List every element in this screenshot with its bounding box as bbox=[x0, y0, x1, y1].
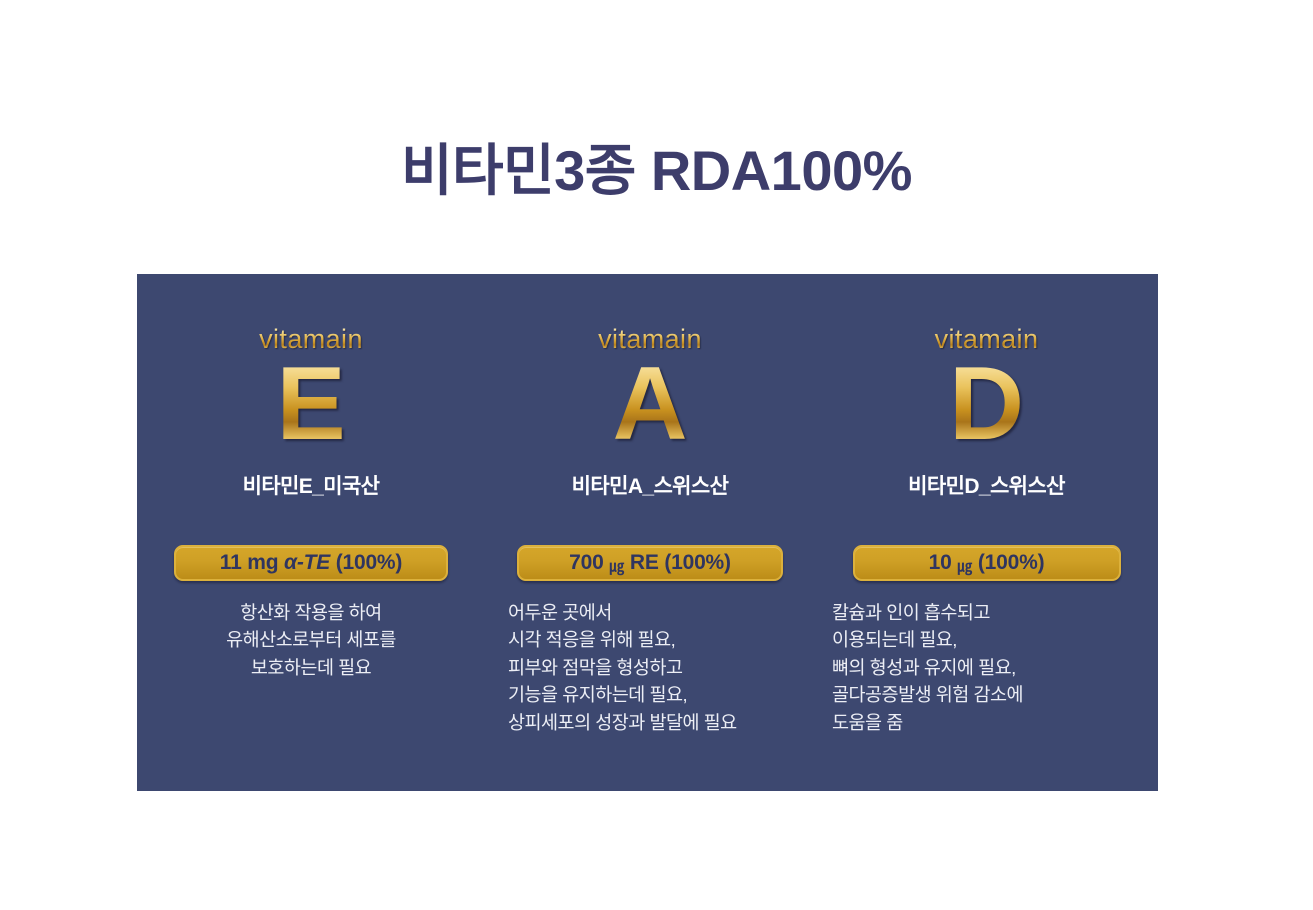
dose-percent-a: (100%) bbox=[664, 551, 731, 575]
dose-badge-a: 700 ㎍ RE (100%) bbox=[517, 545, 783, 581]
vitamin-letter-e: E bbox=[137, 350, 485, 459]
dose-badge-e: 11 mg α-TE (100%) bbox=[174, 545, 448, 581]
vitamin-info-panel: vitamain E 비타민E_미국산 11 mg α-TE (100%) 항산… bbox=[137, 274, 1158, 791]
vitamin-letter-d: D bbox=[815, 350, 1158, 459]
dose-unit-e: mg bbox=[247, 551, 278, 575]
vitamin-source-label-a: 비타민A_스위스산 bbox=[485, 474, 815, 499]
dose-badge-wrapper-d: 10 ㎍ (100%) bbox=[815, 545, 1158, 581]
dose-percent-e: (100%) bbox=[336, 551, 403, 575]
dose-badge-d: 10 ㎍ (100%) bbox=[853, 545, 1121, 581]
vitamin-column-d: vitamain D 비타민D_스위스산 10 ㎍ (100%) 칼슘과 인이 … bbox=[815, 274, 1158, 791]
vitamin-letter-a: A bbox=[485, 350, 815, 459]
dose-unit-d: ㎍ bbox=[957, 555, 972, 576]
page-title: 비타민3종 RDA100% bbox=[0, 142, 1313, 201]
dose-badge-wrapper-e: 11 mg α-TE (100%) bbox=[137, 545, 485, 581]
dose-nutrient-e: α-TE bbox=[284, 551, 330, 575]
dose-nutrient-a: RE bbox=[630, 551, 659, 575]
vitamin-description-a: 어두운 곳에서 시각 적응을 위해 필요, 피부와 점막을 형성하고 기능을 유… bbox=[508, 599, 808, 736]
dose-amount-a: 700 bbox=[569, 551, 603, 575]
vitamin-source-label-d: 비타민D_스위스산 bbox=[815, 474, 1158, 499]
dose-amount-e: 11 bbox=[220, 551, 242, 575]
vitamin-source-label-e: 비타민E_미국산 bbox=[137, 474, 485, 499]
dose-badge-wrapper-a: 700 ㎍ RE (100%) bbox=[485, 545, 815, 581]
dose-unit-a: ㎍ bbox=[609, 555, 624, 576]
dose-amount-d: 10 bbox=[929, 551, 952, 575]
vitamin-description-d: 칼슘과 인이 흡수되고 이용되는데 필요, 뼈의 형성과 유지에 필요, 골다공… bbox=[832, 599, 1152, 736]
vitamin-column-e: vitamain E 비타민E_미국산 11 mg α-TE (100%) 항산… bbox=[137, 274, 485, 791]
vitamin-column-a: vitamain A 비타민A_스위스산 700 ㎍ RE (100%) 어두운… bbox=[485, 274, 815, 791]
dose-percent-d: (100%) bbox=[978, 551, 1045, 575]
vitamin-description-e: 항산화 작용을 하여 유해산소로부터 세포를 보호하는데 필요 bbox=[137, 599, 485, 681]
